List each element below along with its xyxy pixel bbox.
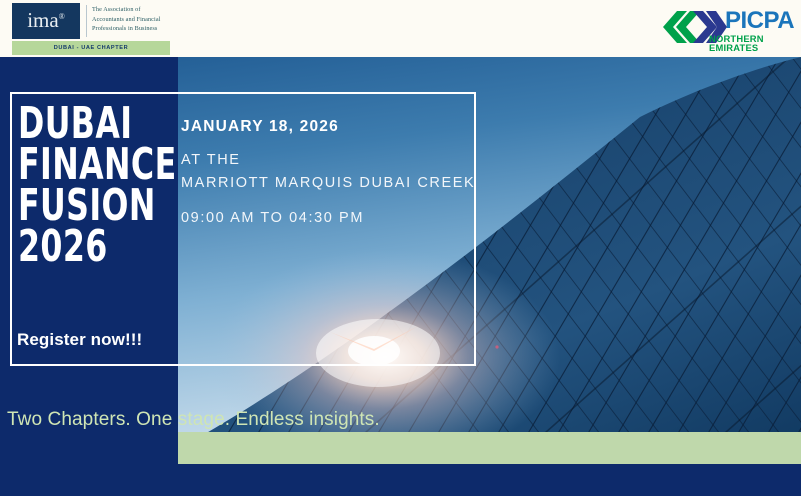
ima-chapter-label: DUBAI - UAE CHAPTER xyxy=(54,45,129,51)
event-headline: DUBAI FINANCE FUSION 2026 xyxy=(18,104,177,268)
event-venue: MARRIOTT MARQUIS DUBAI CREEK xyxy=(181,172,475,195)
event-time: 09:00 AM TO 04:30 PM xyxy=(181,210,475,226)
event-tagline: Two Chapters. One stage. Endless insight… xyxy=(7,409,380,431)
picpa-logo[interactable]: PICPA NORTHERN EMIRATES xyxy=(663,7,793,51)
registered-trademark-icon: ® xyxy=(59,12,65,21)
event-date: JANUARY 18, 2026 xyxy=(181,118,475,137)
picpa-wordmark: PICPA xyxy=(725,9,794,33)
ima-tagline: The Association of Accountants and Finan… xyxy=(92,5,172,34)
picpa-subtitle: NORTHERN EMIRATES xyxy=(709,34,793,53)
page-header: ima® The Association of Accountants and … xyxy=(0,0,801,57)
ima-logo[interactable]: ima® The Association of Accountants and … xyxy=(12,3,170,55)
ima-divider xyxy=(86,5,87,37)
ima-wordmark: ima® xyxy=(27,10,65,31)
event-poster: DUBAI FINANCE FUSION 2026 Register now!!… xyxy=(0,0,801,496)
register-now-cta[interactable]: Register now!!! xyxy=(17,330,142,350)
headline-line-4: 2026 xyxy=(18,227,177,268)
ima-chapter-bar: DUBAI - UAE CHAPTER xyxy=(12,41,170,55)
ima-logo-mark: ima® xyxy=(12,3,80,39)
venue-prefix: AT THE xyxy=(181,149,475,172)
event-details: JANUARY 18, 2026 AT THE MARRIOTT MARQUIS… xyxy=(181,118,475,226)
